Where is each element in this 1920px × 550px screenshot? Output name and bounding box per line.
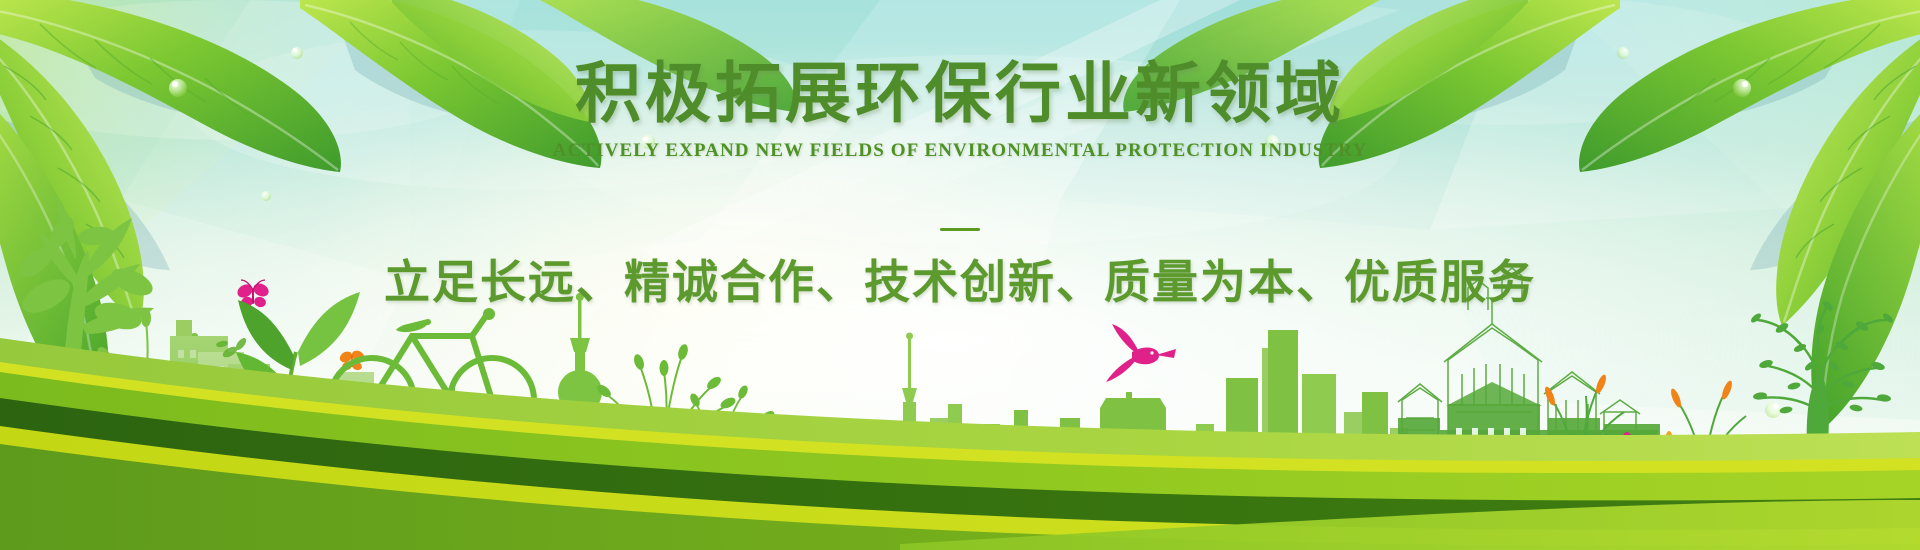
environmental-banner: 积极拓展环保行业新领域 ACTIVELY EXPAND NEW FIELDS O… (0, 0, 1920, 550)
wave-bands-layer (0, 0, 1920, 550)
